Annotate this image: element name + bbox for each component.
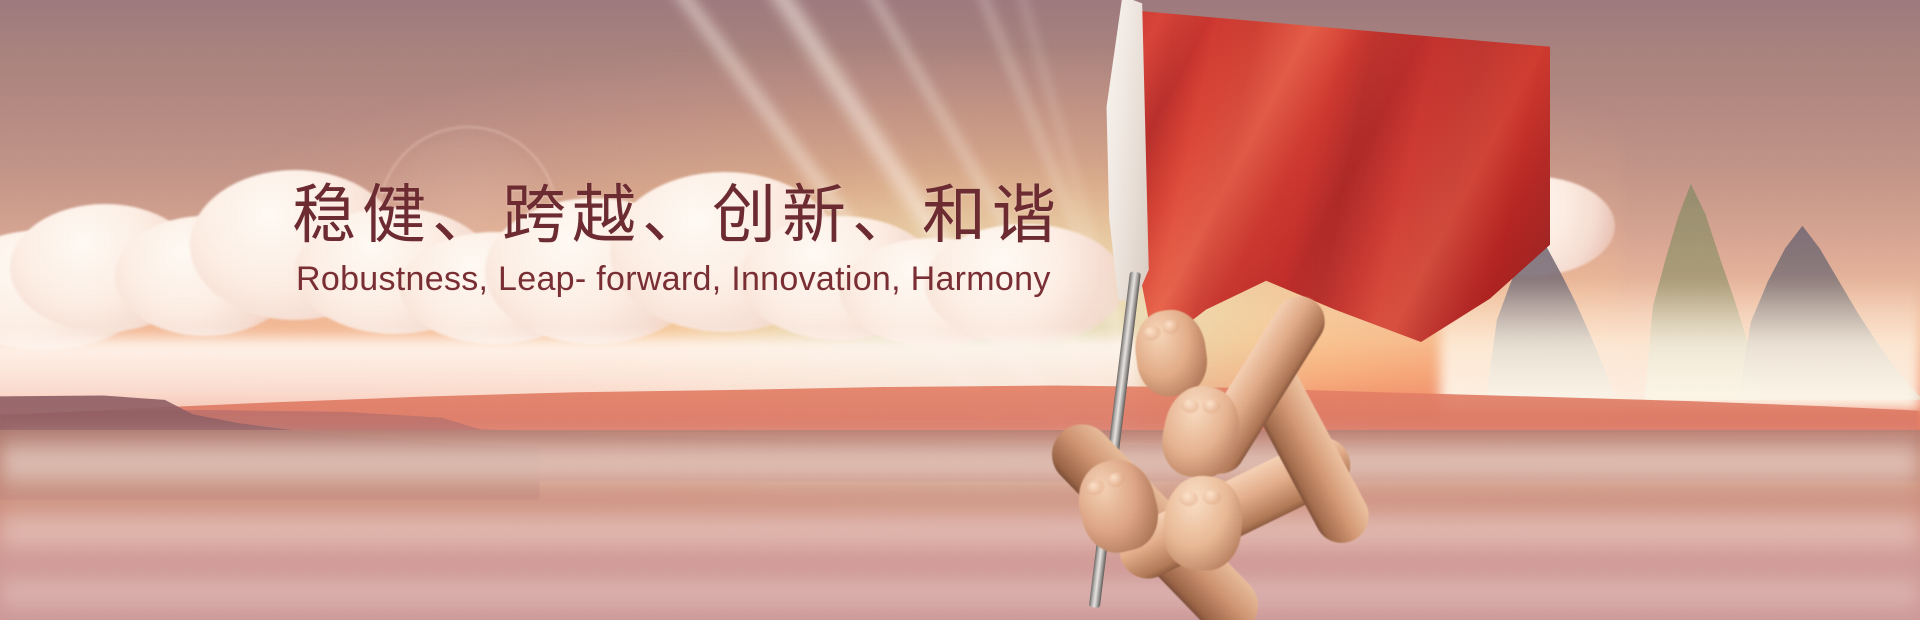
- banner-text-block: 稳健、跨越、创新、和谐 Robustness, Leap- forward, I…: [292, 178, 1062, 299]
- ground-mist: [0, 430, 1920, 500]
- banner-subtitle: Robustness, Leap- forward, Innovation, H…: [296, 260, 1062, 299]
- ground-mist: [0, 502, 1920, 562]
- hero-banner: 稳健、跨越、创新、和谐 Robustness, Leap- forward, I…: [0, 0, 1920, 620]
- landscape: [0, 320, 1920, 620]
- banner-headline: 稳健、跨越、创新、和谐: [292, 178, 1062, 254]
- ground-mist: [0, 568, 1920, 620]
